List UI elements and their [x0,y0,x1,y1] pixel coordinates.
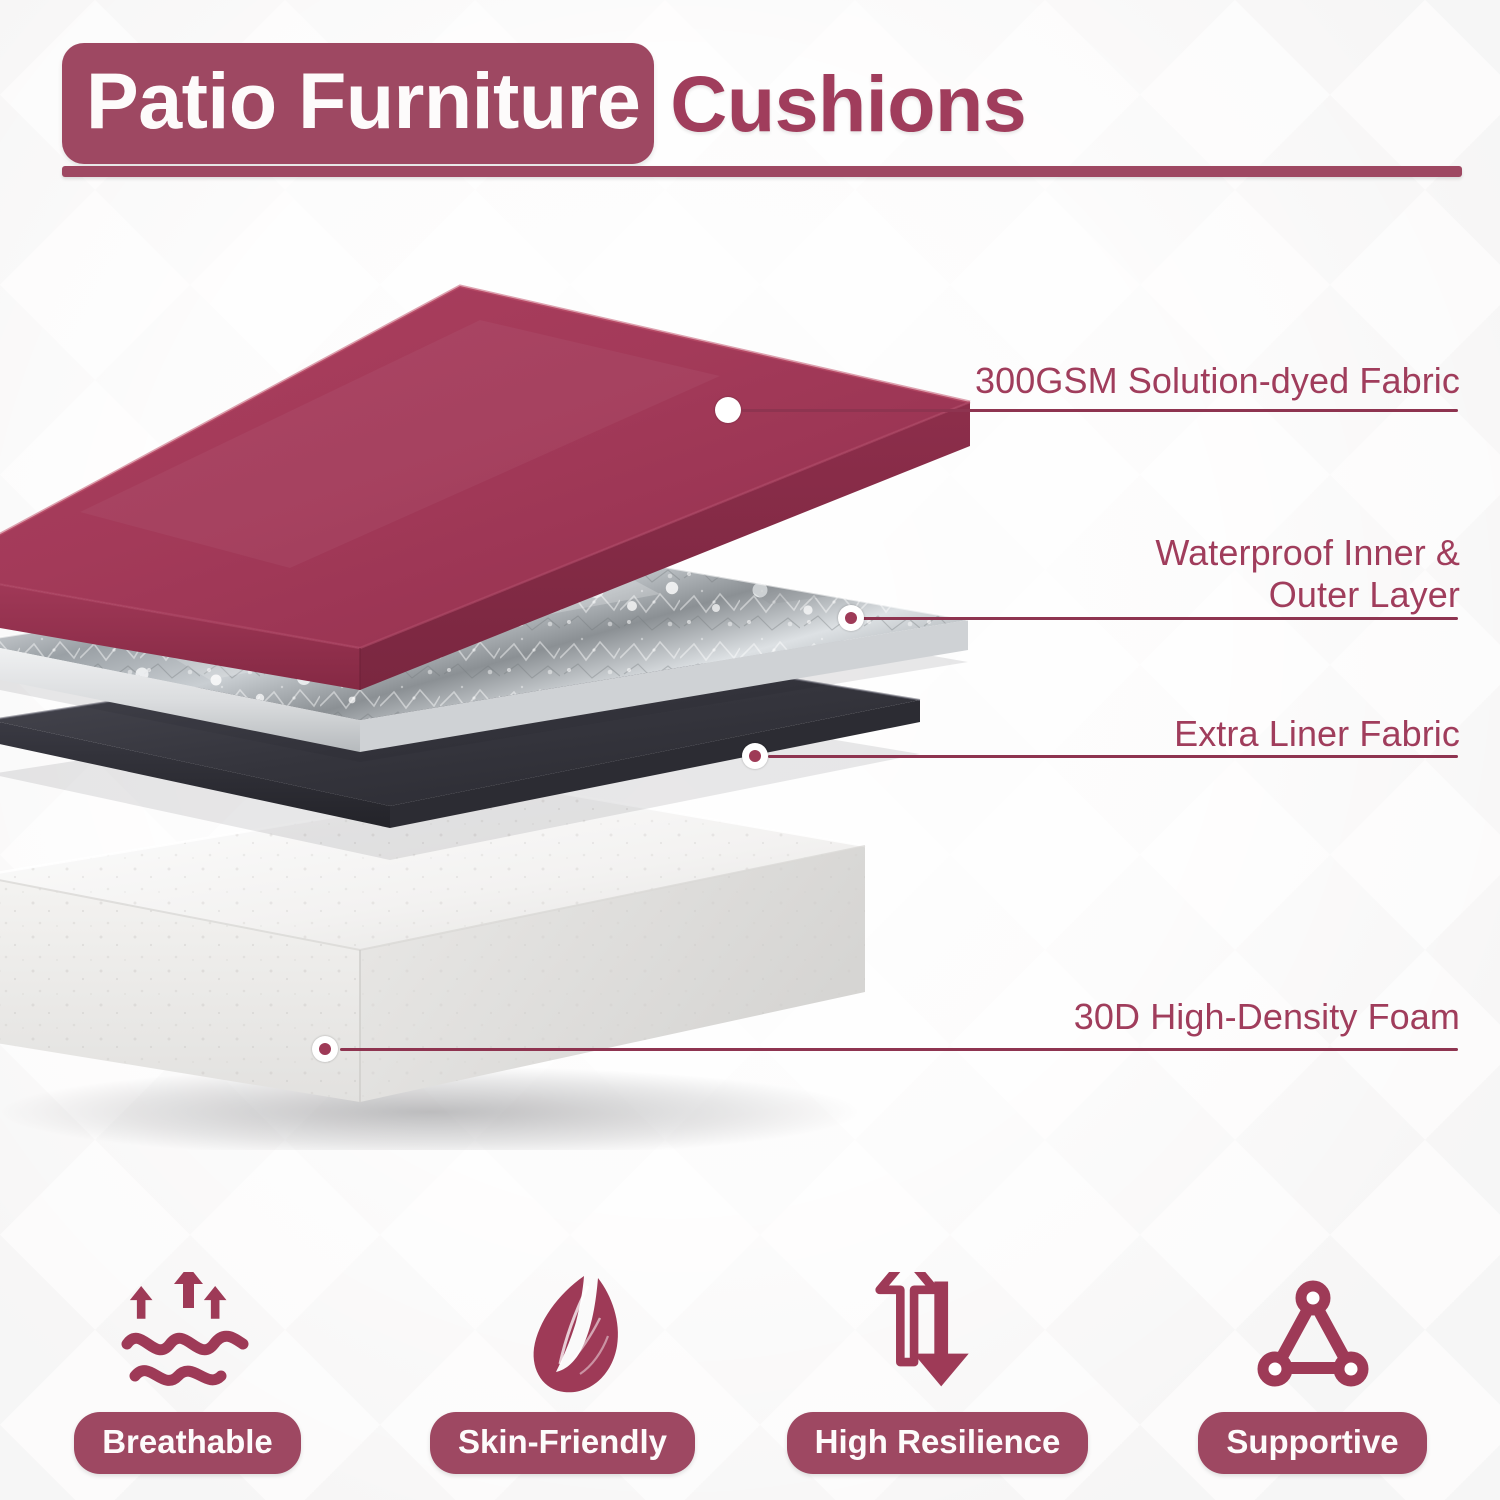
title-highlight-badge: Patio Furniture [62,43,654,164]
feature-supportive: Supportive [1125,1264,1500,1474]
title-underline-rule [62,166,1462,177]
airflow-waves-icon [113,1264,263,1404]
callout-fabric-label: 300GSM Solution-dyed Fabric [760,360,1460,402]
triangle-nodes-icon [1238,1264,1388,1404]
callout-waterproof-marker [838,605,864,631]
callout-fabric-line [742,409,1458,412]
title-plain-text: Cushions [670,64,1026,143]
feature-high-resilience-label: High Resilience [787,1412,1089,1474]
feature-badge-row: Breathable Skin-Friendly High Resilience [0,1244,1500,1474]
callout-foam-marker [312,1036,338,1062]
callout-foam-line [340,1048,1458,1051]
callout-liner-label: Extra Liner Fabric [760,713,1460,755]
feature-skin-friendly-label: Skin-Friendly [430,1412,695,1474]
callout-waterproof-line [862,617,1458,620]
feature-high-resilience: High Resilience [750,1264,1125,1474]
feature-skin-friendly: Skin-Friendly [375,1264,750,1474]
title-row: Patio Furniture Cushions [0,48,1500,158]
callout-liner-line [768,755,1458,758]
feature-supportive-label: Supportive [1198,1412,1426,1474]
callout-fabric-marker [715,397,741,423]
feature-breathable-label: Breathable [74,1412,301,1474]
up-down-arrows-icon [863,1264,1013,1404]
callout-waterproof-label: Waterproof Inner & Outer Layer [760,532,1460,617]
feature-breathable: Breathable [0,1264,375,1474]
feather-icon [488,1264,638,1404]
page-title: Patio Furniture Cushions [0,48,1500,158]
callout-foam-label: 30D High-Density Foam [660,996,1460,1038]
callout-liner-marker [742,743,768,769]
